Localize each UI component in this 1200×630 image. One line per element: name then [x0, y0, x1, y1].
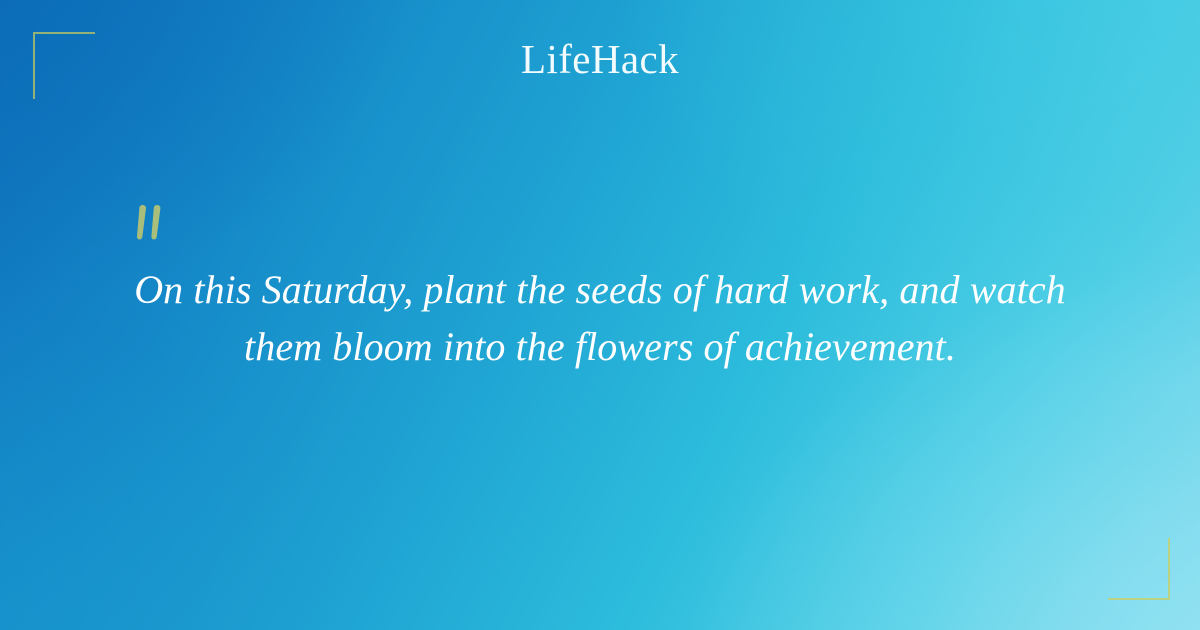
quote-card: LifeHack On this Saturday, plant the see…: [0, 0, 1200, 630]
brand-logo: LifeHack: [0, 39, 1200, 80]
quote-block: On this Saturday, plant the seeds of har…: [100, 262, 1100, 376]
quote-text: On this Saturday, plant the seeds of har…: [100, 262, 1100, 376]
quotation-mark-icon: [131, 193, 175, 245]
corner-bracket-bottom-right-icon: [1108, 538, 1170, 600]
